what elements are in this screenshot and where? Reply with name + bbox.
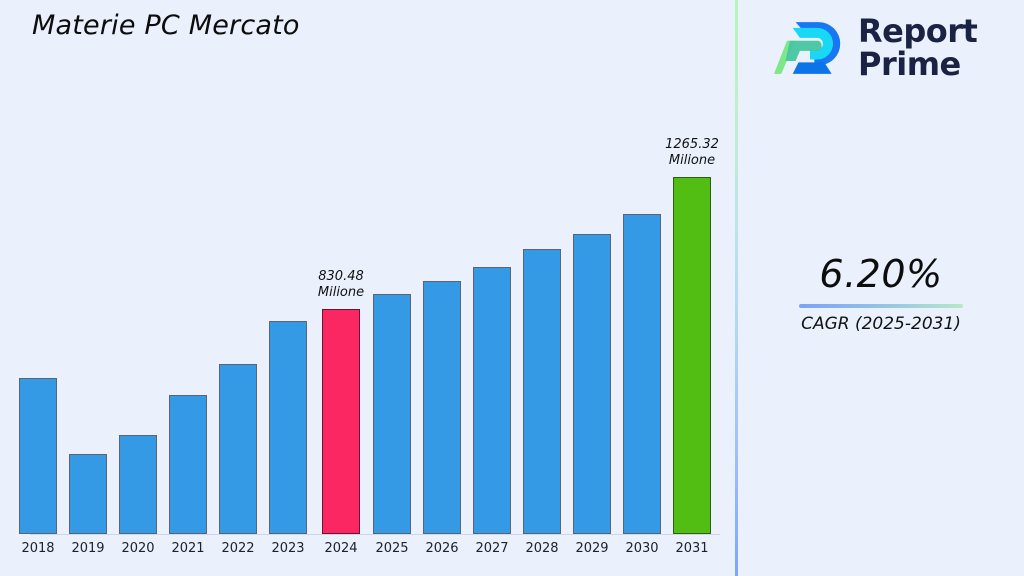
bar-value-label-2031: 1265.32 Milione bbox=[637, 137, 747, 169]
x-axis-tick-2024: 2024 bbox=[316, 541, 366, 556]
bar-2026 bbox=[423, 281, 461, 534]
bar-2021 bbox=[169, 395, 207, 534]
bar-chart-plot-area: 201820192020202120222023830.48 Milione20… bbox=[0, 0, 736, 576]
x-axis-tick-2030: 2030 bbox=[617, 541, 667, 556]
bar-2022 bbox=[219, 364, 257, 534]
x-axis-tick-2028: 2028 bbox=[517, 541, 567, 556]
bar-2024 bbox=[322, 309, 360, 534]
bar-2027 bbox=[473, 267, 511, 534]
bar-2028 bbox=[523, 249, 561, 534]
cagr-divider-rule bbox=[799, 304, 963, 308]
chart-panel: Materie PC Mercato 201820192020202120222… bbox=[0, 0, 736, 576]
cagr-block: 6.20% CAGR (2025-2031) bbox=[738, 252, 1024, 334]
infographic-root: Materie PC Mercato 201820192020202120222… bbox=[0, 0, 1024, 576]
bar-2030 bbox=[623, 214, 661, 534]
bar-2025 bbox=[373, 294, 411, 534]
x-axis-line bbox=[30, 534, 720, 535]
x-axis-tick-2027: 2027 bbox=[467, 541, 517, 556]
brand-line-2: Prime bbox=[858, 48, 977, 81]
x-axis-tick-2029: 2029 bbox=[567, 541, 617, 556]
brand-logo[interactable]: Report Prime bbox=[774, 12, 977, 84]
brand-line-1: Report bbox=[858, 15, 977, 48]
bar-2023 bbox=[269, 321, 307, 534]
x-axis-tick-2026: 2026 bbox=[417, 541, 467, 556]
report-prime-logo-icon bbox=[774, 12, 846, 84]
x-axis-tick-2019: 2019 bbox=[63, 541, 113, 556]
bar-2031 bbox=[673, 177, 711, 534]
x-axis-tick-2022: 2022 bbox=[213, 541, 263, 556]
x-axis-tick-2020: 2020 bbox=[113, 541, 163, 556]
bar-2020 bbox=[119, 435, 157, 534]
brand-logo-text: Report Prime bbox=[858, 15, 977, 81]
x-axis-tick-2023: 2023 bbox=[263, 541, 313, 556]
bar-2029 bbox=[573, 234, 611, 534]
bar-2018 bbox=[19, 378, 57, 534]
right-rail: Report Prime 6.20% CAGR (2025-2031) bbox=[738, 0, 1024, 576]
x-axis-tick-2025: 2025 bbox=[367, 541, 417, 556]
x-axis-tick-2021: 2021 bbox=[163, 541, 213, 556]
x-axis-tick-2018: 2018 bbox=[13, 541, 63, 556]
x-axis-tick-2031: 2031 bbox=[667, 541, 717, 556]
bar-2019 bbox=[69, 454, 107, 534]
cagr-value: 6.20% bbox=[738, 252, 1024, 296]
cagr-caption: CAGR (2025-2031) bbox=[738, 314, 1024, 334]
